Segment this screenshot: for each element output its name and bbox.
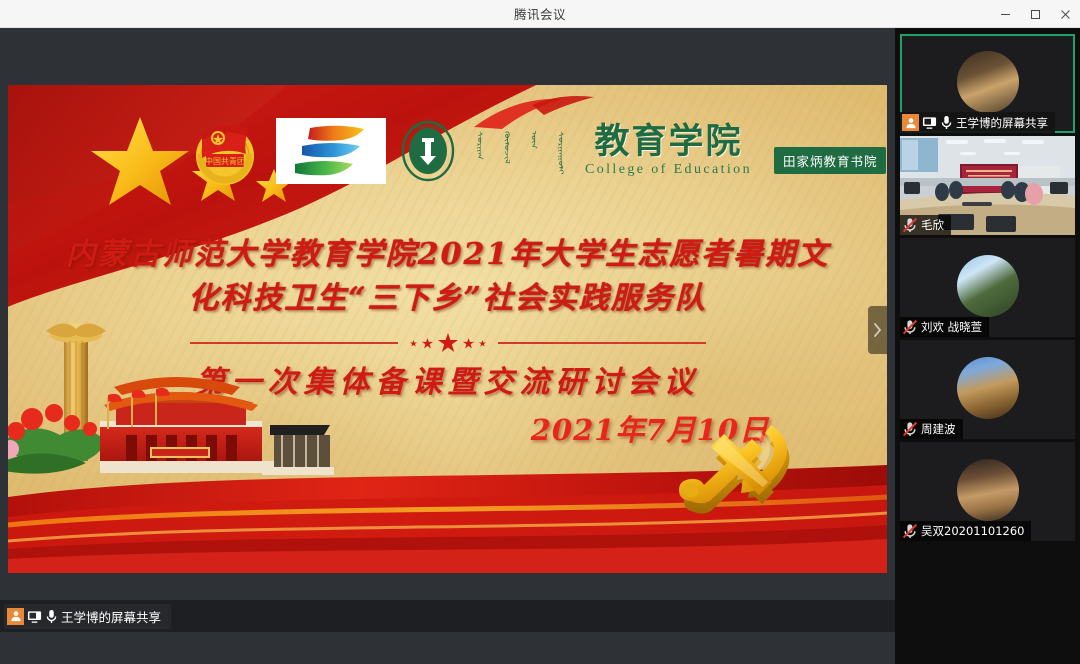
participant-label: 周建波 — [900, 419, 963, 439]
collapse-panel-handle[interactable] — [868, 306, 887, 354]
avatar — [957, 51, 1019, 113]
window-titlebar: 腾讯会议 — [0, 0, 1080, 28]
chevron-right-icon — [873, 323, 882, 337]
star-divider — [8, 333, 887, 353]
host-person-icon — [902, 114, 919, 131]
rainbow-stripes-logo-icon — [276, 118, 386, 184]
microphone-muted-icon — [902, 421, 918, 437]
participant-label: 王学博的屏幕共享 — [900, 112, 1055, 133]
maximize-button[interactable] — [1020, 0, 1050, 28]
microphone-muted-icon — [902, 319, 918, 335]
svg-text:中国共青团: 中国共青团 — [205, 156, 245, 166]
minimize-button[interactable] — [990, 0, 1020, 28]
presentation-banner: 中国共青团 — [8, 85, 887, 573]
divider-bar-right — [498, 342, 706, 344]
headline-line-2: 化科技卫生“三下乡”社会实践服务队 — [8, 277, 887, 321]
university-seal-icon: 内蒙古师范大学 — [400, 120, 456, 182]
screen-share-icon — [922, 115, 937, 130]
participant-name: 王学博的屏幕共享 — [956, 115, 1048, 131]
bottom-status-bar: 王学博的屏幕共享 — [0, 600, 895, 632]
college-name-en: College of Education — [585, 162, 752, 178]
red-swoosh-decoration — [470, 93, 620, 139]
participant-label: 毛欣 — [900, 215, 951, 235]
microphone-icon — [45, 609, 58, 624]
microphone-icon — [940, 115, 953, 130]
party-emblem-icon — [669, 415, 819, 535]
participant-label: 吴双20201101260 — [900, 521, 1031, 541]
active-sharer-chip: 王学博的屏幕共享 — [4, 604, 171, 629]
screen-share-icon — [27, 609, 42, 624]
avatar — [957, 357, 1019, 419]
divider-bar-left — [190, 342, 398, 344]
microphone-muted-icon — [902, 217, 918, 233]
participant-tile[interactable]: 吴双20201101260 — [900, 442, 1075, 541]
institute-badge: 田家炳教育书院 — [774, 147, 887, 174]
participant-tile[interactable]: 王学博的屏幕共享 — [900, 34, 1075, 133]
participant-rail[interactable]: 王学博的屏幕共享 — [895, 28, 1080, 664]
microphone-muted-icon — [902, 523, 918, 539]
participant-tile[interactable]: 刘欢 战晓萱 — [900, 238, 1075, 337]
window-controls — [990, 0, 1080, 28]
app-body: 中国共青团 — [0, 28, 1080, 664]
close-button[interactable] — [1050, 0, 1080, 28]
divider-stars — [398, 333, 498, 353]
participant-name: 刘欢 战晓萱 — [921, 319, 982, 335]
window-title: 腾讯会议 — [514, 4, 566, 23]
sharer-label: 王学博的屏幕共享 — [61, 607, 161, 626]
svg-text:内蒙古师范大学: 内蒙古师范大学 — [412, 124, 445, 131]
communist-youth-league-emblem-icon: 中国共青团 — [188, 114, 262, 188]
host-person-icon — [7, 608, 24, 625]
avatar — [957, 459, 1019, 521]
avatar — [957, 255, 1019, 317]
participant-tile[interactable]: 周建波 — [900, 340, 1075, 439]
shared-screen-stage[interactable]: 中国共青团 — [0, 28, 895, 632]
headline-line-1: 内蒙古师范大学教育学院2021年大学生志愿者暑期文 — [8, 233, 887, 277]
banner-headline: 内蒙古师范大学教育学院2021年大学生志愿者暑期文 化科技卫生“三下乡”社会实践… — [8, 233, 887, 321]
participant-tile[interactable]: 毛欣 — [900, 136, 1075, 235]
participant-label: 刘欢 战晓萱 — [900, 317, 989, 337]
participant-name: 吴双20201101260 — [921, 523, 1024, 539]
participant-name: 毛欣 — [921, 217, 944, 233]
participant-name: 周建波 — [921, 421, 956, 437]
